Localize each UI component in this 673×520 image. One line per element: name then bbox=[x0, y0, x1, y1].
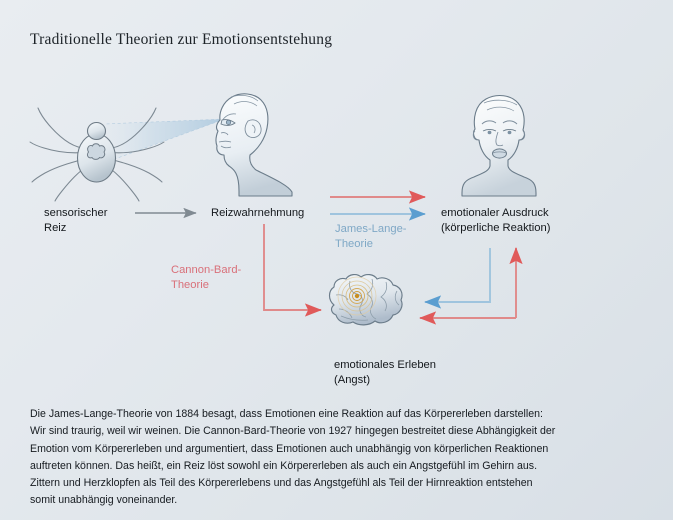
label-emotional-expression-line1: emotionaler Ausdruck bbox=[441, 206, 550, 221]
paragraph-line: auftreten können. Das heißt, ein Reiz lö… bbox=[30, 458, 648, 475]
label-cannon-bard-theory-line2: Theorie bbox=[171, 278, 241, 293]
label-sensory-stimulus-line1: sensorischer bbox=[44, 206, 107, 221]
label-perception: Reizwahrnehmung bbox=[211, 206, 304, 221]
vision-cone bbox=[104, 119, 225, 160]
label-emotional-experience-line1: emotionales Erleben bbox=[334, 358, 436, 373]
arrow-brain-to-expression-red bbox=[420, 248, 516, 318]
label-cannon-bard-theory-line1: Cannon-Bard- bbox=[171, 263, 241, 278]
paragraph-line: Emotion vom Körpererleben und argumentie… bbox=[30, 441, 648, 458]
arrow-expression-to-brain-blue bbox=[425, 248, 490, 302]
label-emotional-experience: emotionales Erleben (Angst) bbox=[334, 358, 436, 387]
label-emotional-expression-line2: (körperliche Reaktion) bbox=[441, 221, 550, 236]
arrow-perception-to-brain-red bbox=[264, 224, 321, 310]
frightened-face-illustration bbox=[462, 96, 536, 196]
label-sensory-stimulus: sensorischer Reiz bbox=[44, 206, 107, 235]
profile-head-illustration bbox=[216, 94, 292, 196]
brain-illustration bbox=[330, 275, 403, 325]
explanatory-paragraph: Die James-Lange-Theorie von 1884 besagt,… bbox=[30, 406, 648, 510]
label-cannon-bard-theory: Cannon-Bard- Theorie bbox=[171, 263, 241, 292]
label-emotional-expression: emotionaler Ausdruck (körperliche Reakti… bbox=[441, 206, 550, 235]
paragraph-line: somit unabhängig voneinander. bbox=[30, 492, 648, 509]
label-emotional-experience-line2: (Angst) bbox=[334, 373, 436, 388]
label-james-lange-theory-line2: Theorie bbox=[335, 237, 407, 252]
paragraph-line: Zittern und Herzklopfen als Teil des Kör… bbox=[30, 475, 648, 492]
paragraph-line: Die James-Lange-Theorie von 1884 besagt,… bbox=[30, 406, 648, 423]
paragraph-line: Wir sind traurig, weil wir weinen. Die C… bbox=[30, 423, 648, 440]
spider-illustration bbox=[30, 108, 164, 201]
label-sensory-stimulus-line2: Reiz bbox=[44, 221, 107, 236]
label-james-lange-theory: James-Lange- Theorie bbox=[335, 222, 407, 251]
diagram-canvas: Traditionelle Theorien zur Emotionsentst… bbox=[0, 0, 673, 520]
label-james-lange-theory-line1: James-Lange- bbox=[335, 222, 407, 237]
